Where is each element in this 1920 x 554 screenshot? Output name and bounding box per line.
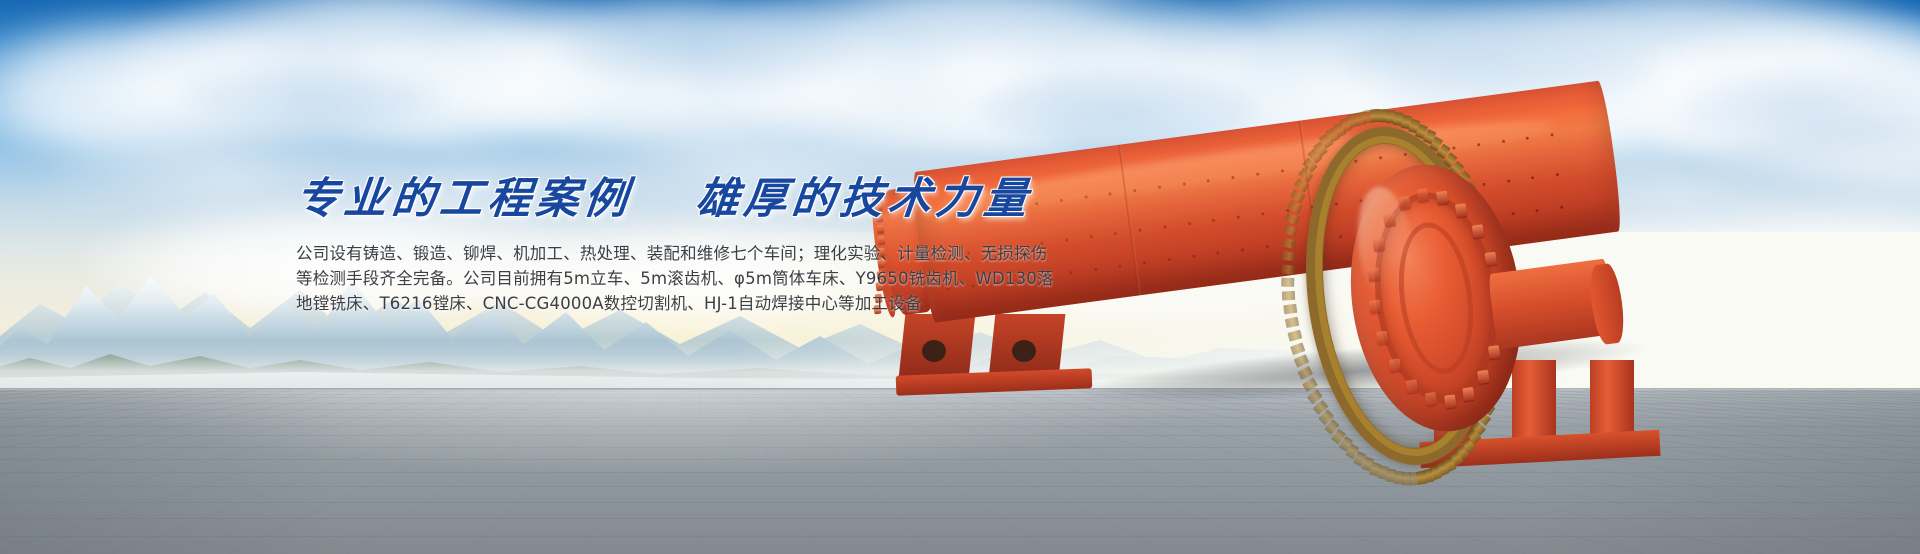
drum-rivet [1261,212,1264,215]
drum-rivet [1551,133,1554,136]
headline-part-2: 雄厚的技术力量 [693,174,1034,224]
leg-hole [1012,340,1036,362]
hub-bolt [1484,252,1497,266]
gear-tooth [1285,317,1300,328]
drum-rivet [1501,139,1504,142]
drum-rivet [1536,209,1539,212]
drum-rivet [1511,212,1514,215]
body-line: 地镗铣床、T6216镗床、CNC-CG4000A数控切割机、HJ-1自动焊接中心… [296,291,1176,316]
base-column [1590,360,1634,442]
hub-bolt [1405,379,1418,393]
hub-bolt [1372,237,1385,251]
hub-bolt [1455,203,1468,217]
drum-rivet [1207,179,1210,182]
hub-bolt [1472,224,1485,238]
drum-rivet [1507,179,1510,182]
hub-bolt [1376,331,1389,345]
gear-tooth [1287,329,1302,341]
base-column [1512,360,1556,442]
headline-part-1: 专业的工程案例 [293,174,634,224]
drum-rivet [1217,252,1220,255]
hub-bolt [1436,191,1449,205]
body-line: 等检测手段齐全完备。公司目前拥有5m立车、5m滚齿机、φ5m筒体车床、Y9650… [296,266,1176,291]
drum-rivet [1266,245,1269,248]
gear-tooth [1282,291,1295,301]
hub-bolt [1398,196,1411,210]
drum-rivet [1281,169,1284,172]
drum-rivet [1531,176,1534,179]
machine-support-leg-front [896,310,1092,400]
hub-bolt [1416,188,1429,202]
ball-mill-machine [1120,150,1880,490]
hub-bolt [1369,299,1382,313]
leg-hole [922,340,946,362]
drum-rivet [1556,172,1559,175]
gear-tooth [1281,264,1295,274]
banner-copy: 专业的工程案例 雄厚的技术力量 公司设有铸造、锻造、铆焊、机加工、热处理、装配和… [296,176,1176,316]
hub-bolt [1383,213,1396,227]
gear-tooth [1281,278,1294,287]
drum-rivet [1231,175,1234,178]
drum-rivet [1482,182,1485,185]
hub-bolt [1368,267,1381,281]
hub-bolt [1424,392,1437,406]
drum-rivet [1182,182,1185,185]
banner-body-copy: 公司设有铸造、锻造、铆焊、机加工、热处理、装配和维修七个车间；理化实验、计量检测… [296,241,1176,316]
hero-banner: 专业的工程案例 雄厚的技术力量 公司设有铸造、锻造、铆焊、机加工、热处理、装配和… [0,0,1920,554]
drum-rivet [1560,206,1563,209]
gear-tooth [1283,304,1297,315]
drum-rivet [1526,136,1529,139]
body-line: 公司设有铸造、锻造、铆焊、机加工、热处理、装配和维修七个车间；理化实验、计量检测… [296,241,1176,266]
drum-rivet [1212,218,1215,221]
hub-bolt [1444,394,1457,408]
hub-bolt [1477,370,1490,384]
drum-rivet [1477,143,1480,146]
drum-rivet [1188,221,1191,224]
drum-rivet [1237,215,1240,218]
drum-rivet [1192,255,1195,258]
banner-headline: 专业的工程案例 雄厚的技术力量 [294,176,1179,222]
hub-bolt [1462,387,1475,401]
hub-bolt [1389,358,1402,372]
drum-rivet [1256,172,1259,175]
drum-rivet [1241,248,1244,251]
